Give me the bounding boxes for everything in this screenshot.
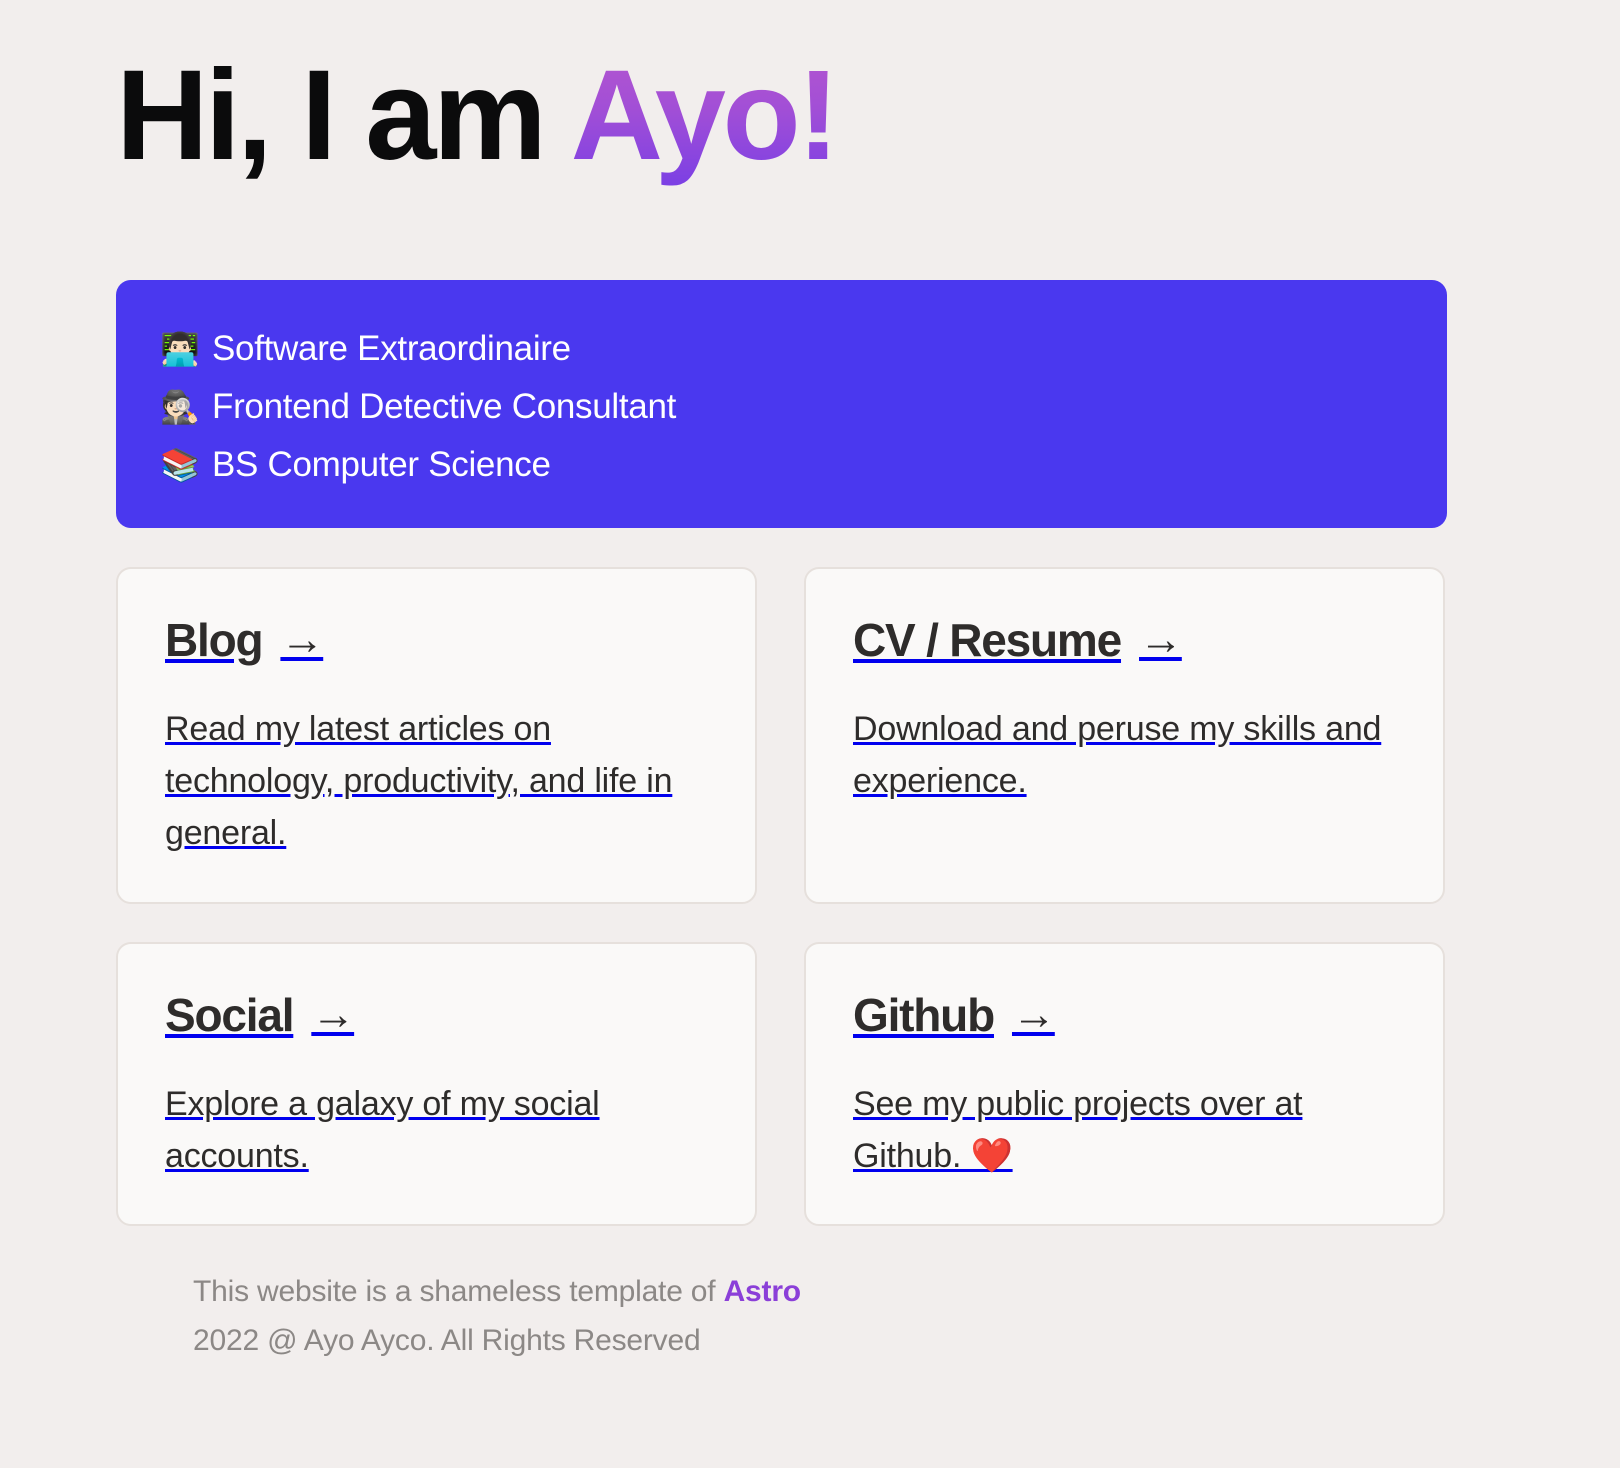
card-title: CV / Resume →: [853, 616, 1396, 664]
hero-greeting: Hi, I am: [116, 44, 571, 187]
list-item: 👨🏻‍💻 Software Extraordinaire: [160, 320, 1447, 378]
hero-name: Ayo!: [571, 44, 837, 187]
banner-item-label: Frontend Detective Consultant: [212, 387, 676, 427]
banner-item-label: BS Computer Science: [212, 445, 551, 485]
man-technologist-emoji: 👨🏻‍💻: [160, 333, 212, 365]
card-description: Download and peruse my skills and experi…: [853, 704, 1396, 807]
arrow-right-icon: →: [311, 993, 354, 1037]
card-social[interactable]: Social → Explore a galaxy of my social a…: [116, 942, 757, 1226]
card-description: Read my latest articles on technology, p…: [165, 704, 708, 859]
page-footer: This website is a shameless template of …: [193, 1268, 801, 1365]
card-title-label: Social: [165, 991, 293, 1039]
card-description: Explore a galaxy of my social accounts.: [165, 1079, 708, 1182]
list-item: 🕵🏻 Frontend Detective Consultant: [160, 378, 1447, 436]
card-title: Github →: [853, 991, 1396, 1039]
arrow-right-icon: →: [280, 618, 323, 662]
arrow-right-icon: →: [1139, 618, 1182, 662]
card-title-label: Blog: [165, 616, 262, 664]
portfolio-page: Hi, I am Ayo! 👨🏻‍💻 Software Extraordinai…: [0, 0, 1620, 1468]
card-blog[interactable]: Blog → Read my latest articles on techno…: [116, 567, 757, 904]
intro-banner: 👨🏻‍💻 Software Extraordinaire 🕵🏻 Frontend…: [116, 280, 1447, 528]
card-title: Social →: [165, 991, 708, 1039]
card-cv-resume[interactable]: CV / Resume → Download and peruse my ski…: [804, 567, 1445, 904]
footer-credit-text: This website is a shameless template of: [193, 1275, 724, 1308]
card-description: See my public projects over at Github. ❤…: [853, 1079, 1396, 1182]
footer-copyright: 2022 @ Ayo Ayco. All Rights Reserved: [193, 1317, 801, 1366]
card-title: Blog →: [165, 616, 708, 664]
page-title: Hi, I am Ayo!: [116, 52, 836, 180]
books-emoji: 📚: [160, 449, 212, 481]
list-item: 📚 BS Computer Science: [160, 436, 1447, 494]
detective-emoji: 🕵🏻: [160, 391, 212, 423]
card-title-label: Github: [853, 991, 994, 1039]
banner-item-label: Software Extraordinaire: [212, 329, 571, 369]
astro-link[interactable]: Astro: [724, 1275, 801, 1308]
arrow-right-icon: →: [1012, 993, 1055, 1037]
link-card-grid: Blog → Read my latest articles on techno…: [116, 567, 1447, 1226]
intro-banner-list: 👨🏻‍💻 Software Extraordinaire 🕵🏻 Frontend…: [116, 320, 1447, 494]
footer-credit-line: This website is a shameless template of …: [193, 1268, 801, 1317]
card-title-label: CV / Resume: [853, 616, 1121, 664]
card-github[interactable]: Github → See my public projects over at …: [804, 942, 1445, 1226]
